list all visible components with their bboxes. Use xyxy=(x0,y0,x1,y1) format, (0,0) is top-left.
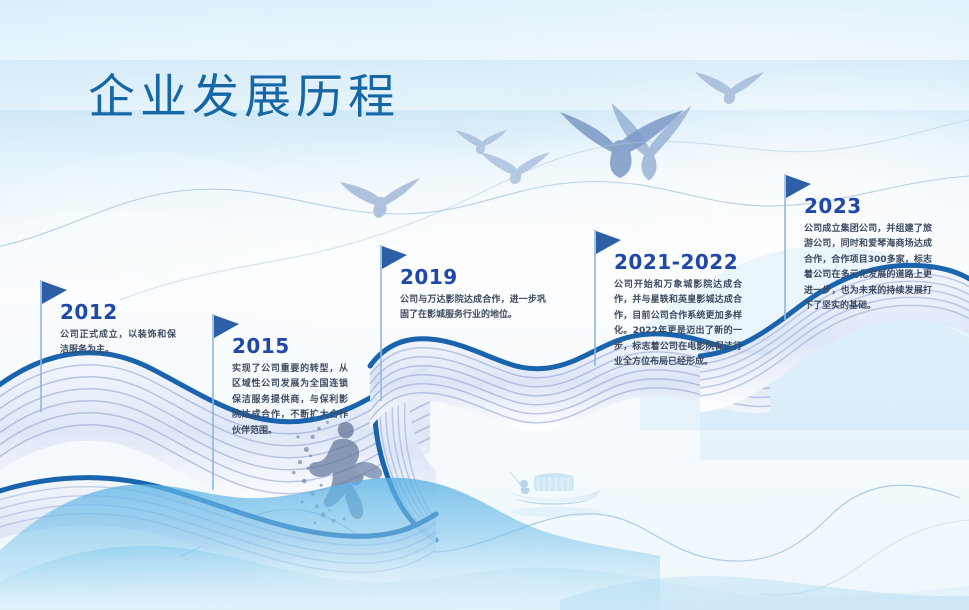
milestone-desc: 公司开始和万象城影院达成合作，并与星轶和英皇影城达成合作，目前公司合作系统更加多… xyxy=(614,278,742,371)
fishing-boat-icon xyxy=(510,472,602,517)
poster-canvas: 企业发展历程 2012 公司正式成立，以装饰和保洁服务为主。 2015 实现了公… xyxy=(0,0,969,610)
milestone-desc: 公司成立集团公司，并组建了旅游公司，同时和爱琴海商场达成合作，合作项目300多家… xyxy=(804,222,932,315)
milestone-year: 2023 xyxy=(804,194,862,218)
milestone-year: 2012 xyxy=(60,300,118,324)
milestone-desc: 公司与万达影院达成合作，进一步巩固了在影城服务行业的地位。 xyxy=(400,293,546,324)
milestone-desc: 实现了公司重要的转型，从区域性公司发展为全国连锁保洁服务提供商，与保利影院达成合… xyxy=(232,362,348,439)
milestone-year: 2019 xyxy=(400,265,458,289)
milestone-year: 2021-2022 xyxy=(614,250,738,274)
milestone-year: 2015 xyxy=(232,334,290,358)
milestone-desc: 公司正式成立，以装饰和保洁服务为主。 xyxy=(60,328,176,359)
page-title: 企业发展历程 xyxy=(88,58,400,127)
